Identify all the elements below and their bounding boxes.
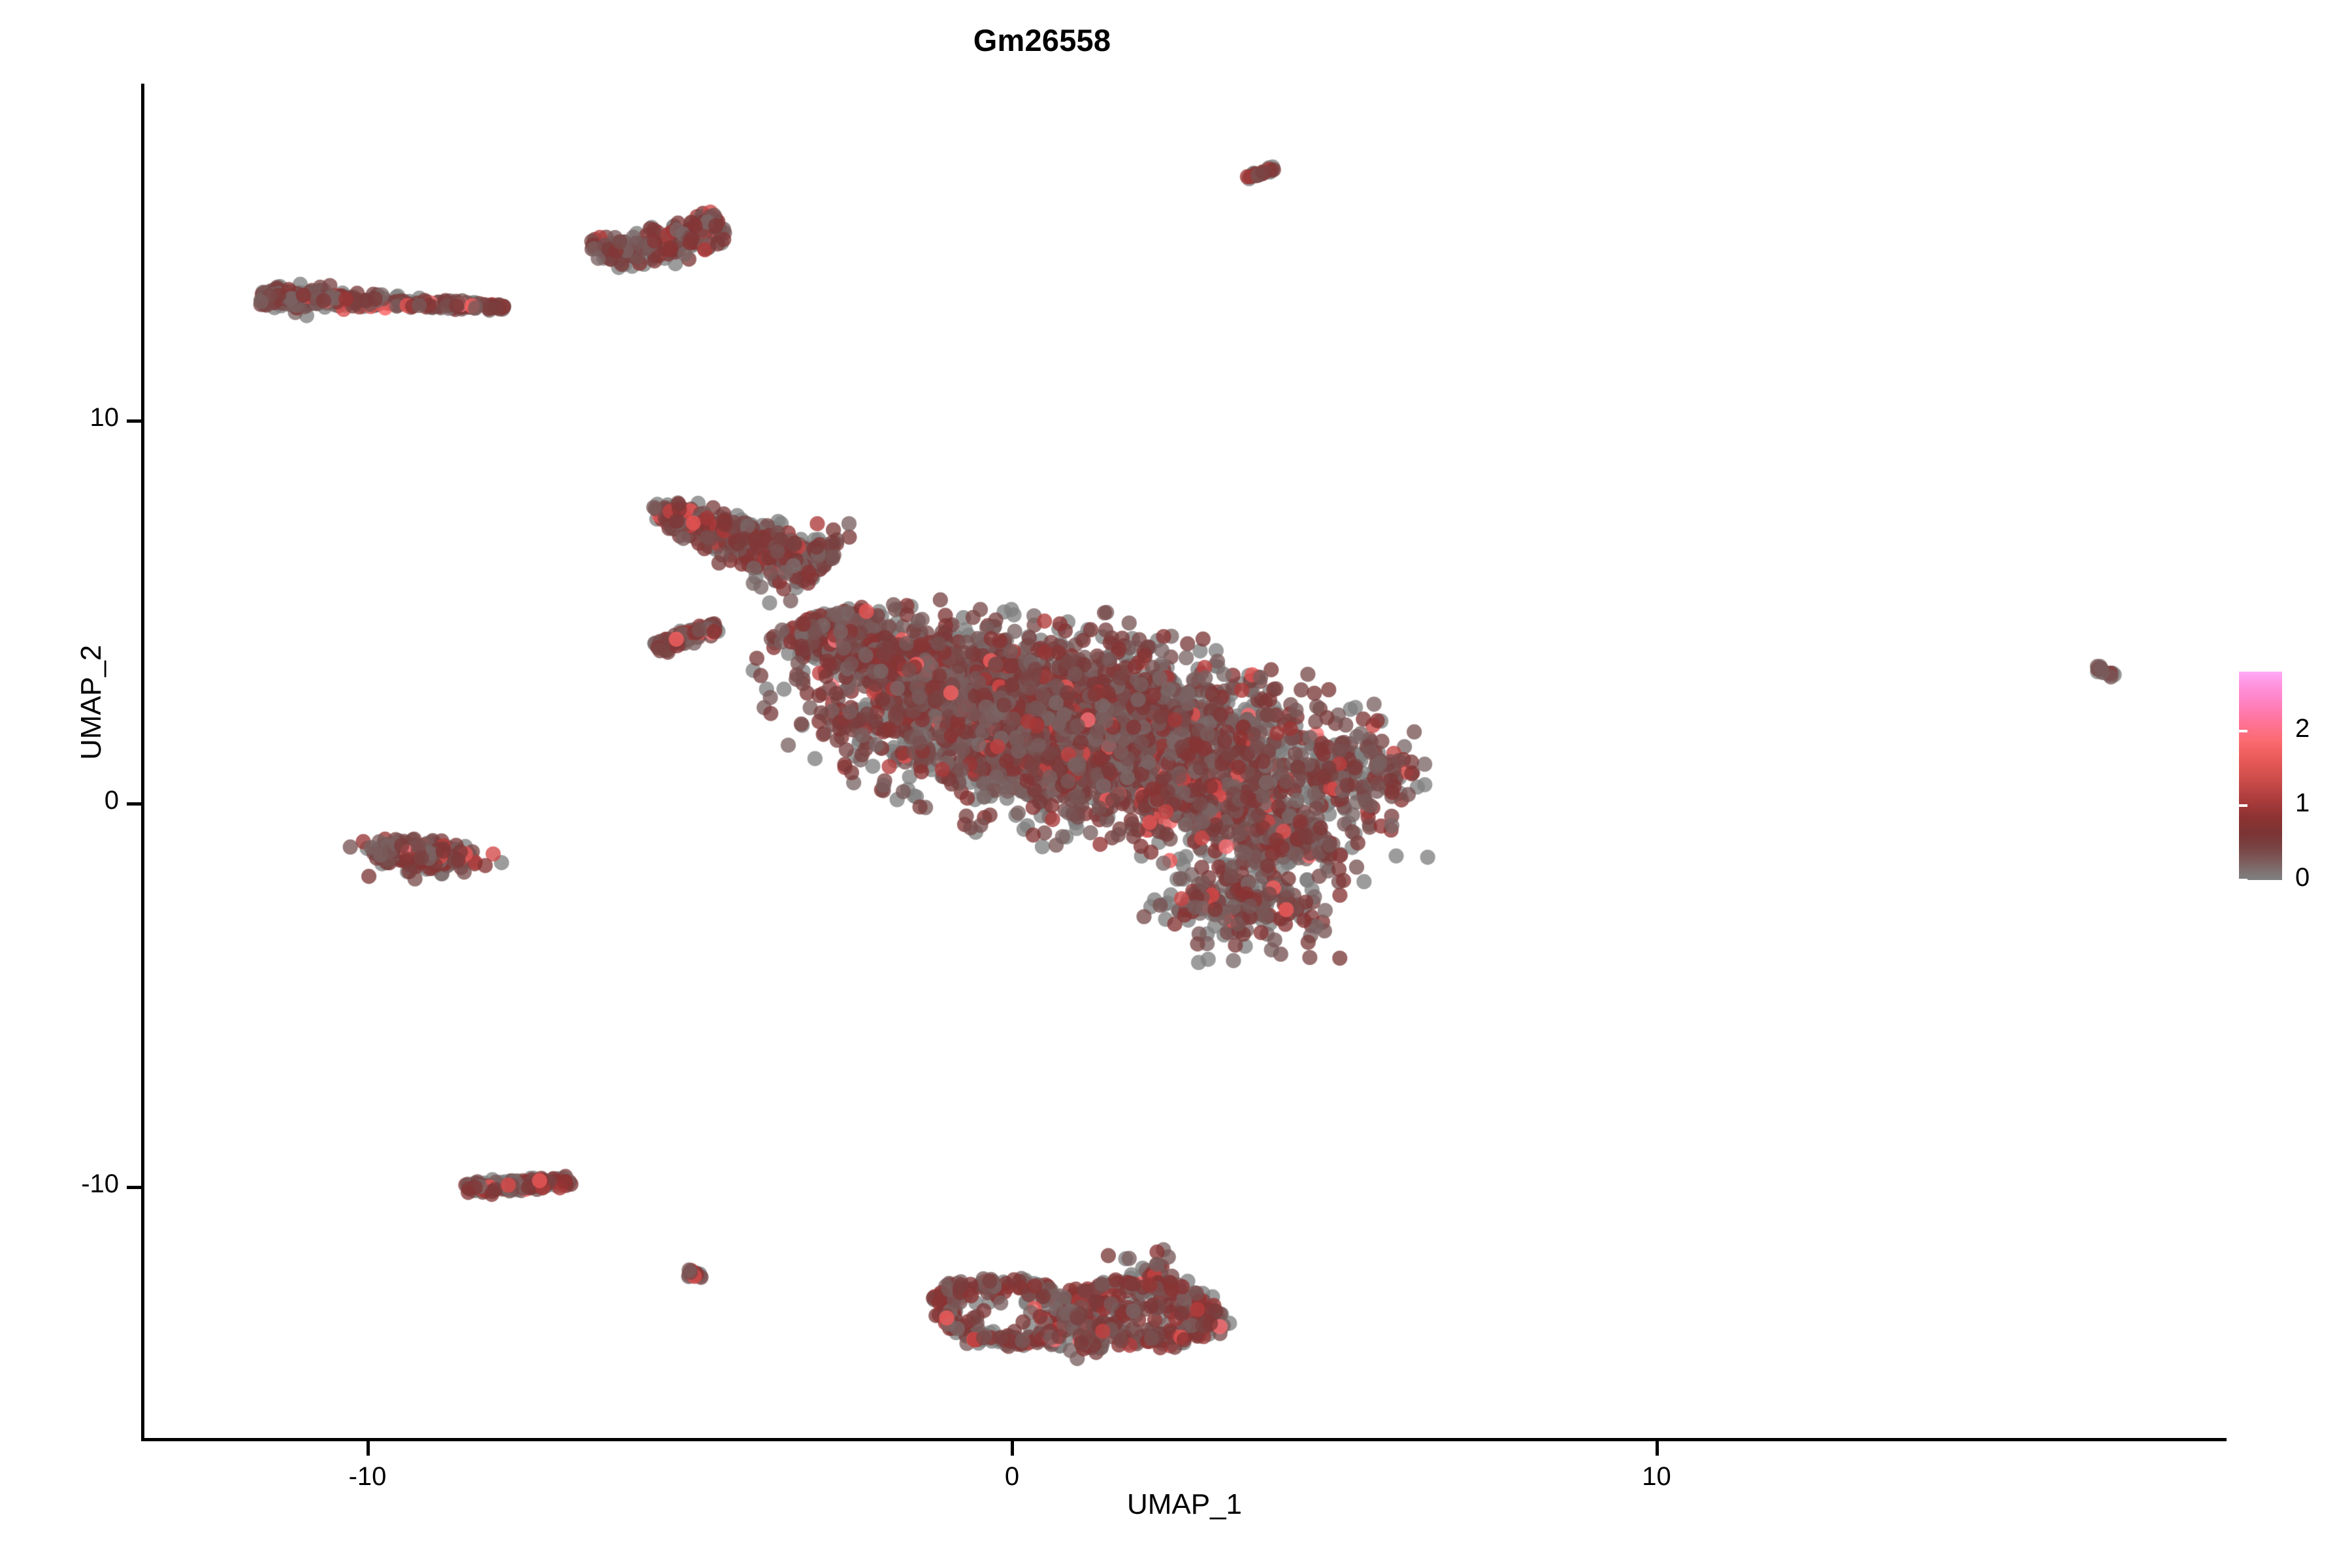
y-axis-line [141,84,144,1439]
scatter-points-layer [142,84,2227,1439]
colorbar-tick [2335,879,2344,881]
colorbar-tick [2239,730,2247,732]
colorbar-tick [2239,804,2247,807]
x-axis-tick [1011,1441,1014,1456]
x-axis-tick-label: 0 [934,1462,1090,1492]
colorbar-gradient [2239,672,2282,880]
x-axis-tick [367,1441,370,1456]
colorbar-tick-label: 2 [2295,714,2310,743]
x-axis-tick [1656,1441,1659,1456]
x-axis-title: UMAP_1 [142,1488,2227,1521]
color-legend: 210 [2239,672,2344,887]
colorbar-tick [2239,879,2247,881]
colorbar-tick-label: 1 [2295,789,2310,818]
y-axis-tick-label: -10 [0,1169,119,1199]
colorbar-tick [2335,804,2344,807]
y-axis-tick [127,802,141,806]
umap-feature-plot: Gm26558 100-10-10010 UMAP_1 UMAP_2 210 [0,0,2352,1568]
x-axis-tick-label: 10 [1578,1462,1735,1492]
y-axis-tick [127,1186,141,1189]
colorbar-tick [2335,730,2344,732]
y-axis-tick [127,419,141,423]
plot-panel [142,84,2227,1439]
x-axis-tick-label: -10 [289,1462,446,1492]
page-title: Gm26558 [0,22,2084,58]
x-axis-line [141,1438,2227,1441]
y-axis-title: UMAP_2 [75,572,108,833]
y-axis-tick-label: 10 [0,403,119,433]
colorbar-tick-label: 0 [2295,863,2310,892]
